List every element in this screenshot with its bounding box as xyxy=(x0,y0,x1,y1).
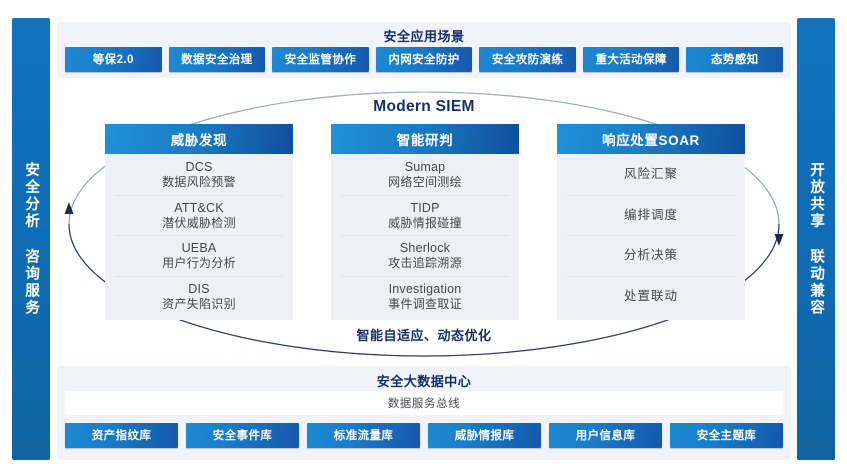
item-cn: 编排调度 xyxy=(624,208,678,223)
pillar-header: 智能研判 xyxy=(331,124,519,154)
scenario-chip[interactable]: 安全监管协作 xyxy=(272,47,369,72)
scenarios-title: 安全应用场景 xyxy=(57,26,791,45)
item-cn: 事件调查取证 xyxy=(388,297,462,311)
pillar-header: 响应处置SOAR xyxy=(557,124,745,154)
pillar-body: Sumap 网络空间测绘 TIDP 威胁情报碰撞 Sherlock 攻击追踪溯源… xyxy=(331,154,519,320)
item-en: Investigation xyxy=(389,282,462,297)
pillar-item[interactable]: Investigation 事件调查取证 xyxy=(341,277,509,317)
bigdata-center-title: 安全大数据中心 xyxy=(57,371,791,390)
pillar-item[interactable]: DCS 数据风险预警 xyxy=(115,155,283,196)
pillar-header: 威胁发现 xyxy=(105,124,293,154)
adaptive-optimization-caption: 智能自适应、动态优化 xyxy=(57,325,791,344)
repository-chip[interactable]: 安全事件库 xyxy=(186,423,299,448)
pillar-intelligent-analysis[interactable]: 智能研判 Sumap 网络空间测绘 TIDP 威胁情报碰撞 Sherlock 攻… xyxy=(331,124,519,320)
pillar-item[interactable]: DIS 资产失陷识别 xyxy=(115,277,283,317)
scenario-chip[interactable]: 重大活动保障 xyxy=(583,47,680,72)
security-bigdata-center-panel: 安全大数据中心 数据服务总线 资产指纹库 安全事件库 标准流量库 威胁情报库 用… xyxy=(57,366,791,460)
item-en: ATT&CK xyxy=(174,201,224,216)
modern-siem-stage: Modern SIEM 威胁发现 DCS 数据风险预警 ATT&CK 潜伏威胁检… xyxy=(57,84,791,368)
item-cn: 分析决策 xyxy=(624,248,678,263)
pillar-response-soar[interactable]: 响应处置SOAR 风险汇聚 编排调度 分析决策 处置联动 xyxy=(557,124,745,320)
pillar-item[interactable]: TIDP 威胁情报碰撞 xyxy=(341,196,509,237)
item-cn: 攻击追踪溯源 xyxy=(388,256,462,270)
pillar-body: DCS 数据风险预警 ATT&CK 潜伏威胁检测 UEBA 用户行为分析 DIS… xyxy=(105,154,293,320)
scenario-chip[interactable]: 态势感知 xyxy=(686,47,783,72)
scenario-chip[interactable]: 数据安全治理 xyxy=(169,47,266,72)
pillar-item[interactable]: 分析决策 xyxy=(567,236,735,277)
pillar-item[interactable]: Sumap 网络空间测绘 xyxy=(341,155,509,196)
item-en: Sherlock xyxy=(400,241,450,256)
repository-chip[interactable]: 用户信息库 xyxy=(549,423,662,448)
sidebar-security-analysis[interactable]: 安全分析 咨询服务 xyxy=(12,18,50,460)
repository-chip[interactable]: 安全主题库 xyxy=(670,423,783,448)
data-service-bus: 数据服务总线 xyxy=(65,391,783,415)
scenario-chip[interactable]: 内网安全防护 xyxy=(376,47,473,72)
pillar-item[interactable]: UEBA 用户行为分析 xyxy=(115,236,283,277)
pillar-item[interactable]: Sherlock 攻击追踪溯源 xyxy=(341,236,509,277)
pillar-body: 风险汇聚 编排调度 分析决策 处置联动 xyxy=(557,154,745,320)
sidebar-right-label: 开放共享 联动兼容 xyxy=(807,162,825,317)
scenario-chip-row: 等保2.0 数据安全治理 安全监管协作 内网安全防护 安全攻防演练 重大活动保障… xyxy=(65,46,783,72)
repository-chip[interactable]: 资产指纹库 xyxy=(65,423,178,448)
item-en: TIDP xyxy=(410,201,439,216)
pillar-item[interactable]: 风险汇聚 xyxy=(567,155,735,196)
modern-siem-title: Modern SIEM xyxy=(57,98,791,116)
item-cn: 用户行为分析 xyxy=(162,256,236,270)
item-cn: 威胁情报碰撞 xyxy=(388,216,462,230)
sidebar-open-sharing[interactable]: 开放共享 联动兼容 xyxy=(797,18,835,460)
repository-chip-row: 资产指纹库 安全事件库 标准流量库 威胁情报库 用户信息库 安全主题库 xyxy=(65,422,783,448)
item-cn: 风险汇聚 xyxy=(624,167,678,182)
pillar-item[interactable]: 处置联动 xyxy=(567,277,735,317)
scenario-chip[interactable]: 安全攻防演练 xyxy=(479,47,576,72)
item-cn: 潜伏威胁检测 xyxy=(162,216,236,230)
pillar-item[interactable]: ATT&CK 潜伏威胁检测 xyxy=(115,196,283,237)
repository-chip[interactable]: 标准流量库 xyxy=(307,423,420,448)
pillar-item[interactable]: 编排调度 xyxy=(567,196,735,237)
repository-chip[interactable]: 威胁情报库 xyxy=(428,423,541,448)
item-cn: 数据风险预警 xyxy=(162,175,236,189)
item-en: UEBA xyxy=(182,241,217,256)
diagram-canvas: 安全分析 咨询服务 开放共享 联动兼容 安全应用场景 等保2.0 数据安全治理 … xyxy=(0,0,847,476)
item-cn: 资产失陷识别 xyxy=(162,297,236,311)
siem-pillars: 威胁发现 DCS 数据风险预警 ATT&CK 潜伏威胁检测 UEBA 用户行为分… xyxy=(105,124,745,320)
item-cn: 网络空间测绘 xyxy=(388,175,462,189)
sidebar-left-label: 安全分析 咨询服务 xyxy=(22,162,40,317)
item-cn: 处置联动 xyxy=(624,289,678,304)
item-en: Sumap xyxy=(405,160,446,175)
scenario-chip[interactable]: 等保2.0 xyxy=(65,47,162,72)
pillar-threat-detection[interactable]: 威胁发现 DCS 数据风险预警 ATT&CK 潜伏威胁检测 UEBA 用户行为分… xyxy=(105,124,293,320)
item-en: DIS xyxy=(188,282,209,297)
item-en: DCS xyxy=(186,160,213,175)
security-scenarios-panel: 安全应用场景 等保2.0 数据安全治理 安全监管协作 内网安全防护 安全攻防演练… xyxy=(57,22,791,78)
